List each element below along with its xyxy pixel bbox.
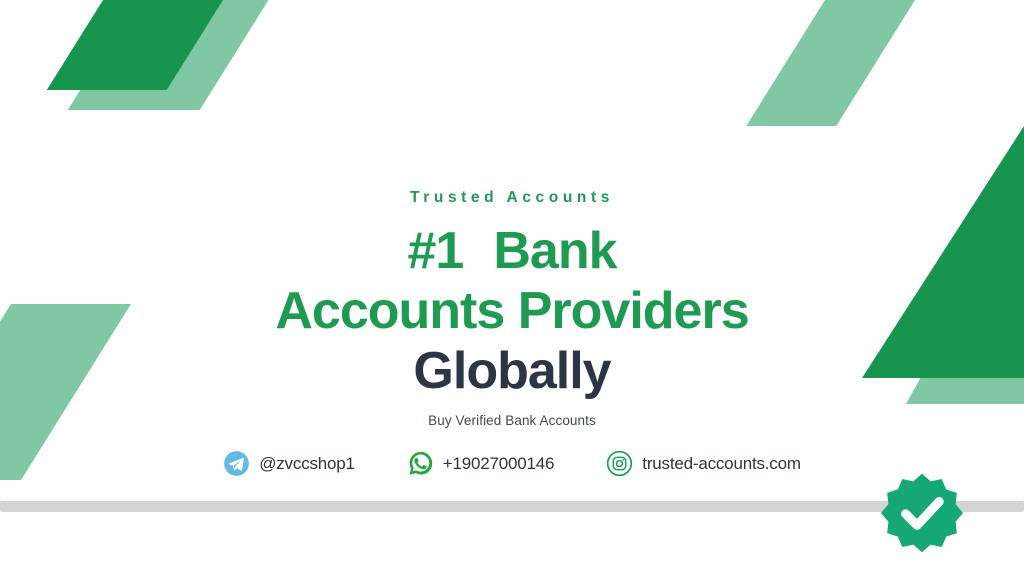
contact-website[interactable]: trusted-accounts.com [606,450,801,477]
headline-line-2: Accounts Providers [275,285,748,337]
promotional-banner: Trusted Accounts #1Bank Accounts Provide… [0,0,1024,576]
whatsapp-icon [407,450,434,477]
contact-telegram[interactable]: @zvccshop1 [223,450,355,477]
contact-website-label: trusted-accounts.com [642,454,801,474]
headline-rank: #1 [408,222,464,280]
headline-line-1: #1Bank [408,225,617,277]
contact-whatsapp-label: +19027000146 [443,454,555,474]
headline-line-3: Globally [413,345,610,397]
banner-content: Trusted Accounts #1Bank Accounts Provide… [0,0,1024,576]
eyebrow-text: Trusted Accounts [410,189,614,207]
contact-row: @zvccshop1 +19027000146 trusted-accounts… [223,450,801,477]
contact-whatsapp[interactable]: +19027000146 [407,450,555,477]
instagram-icon [606,450,633,477]
headline-keyword: Bank [493,222,616,280]
telegram-icon [223,450,250,477]
contact-telegram-label: @zvccshop1 [259,454,355,474]
subtitle-text: Buy Verified Bank Accounts [428,413,596,428]
